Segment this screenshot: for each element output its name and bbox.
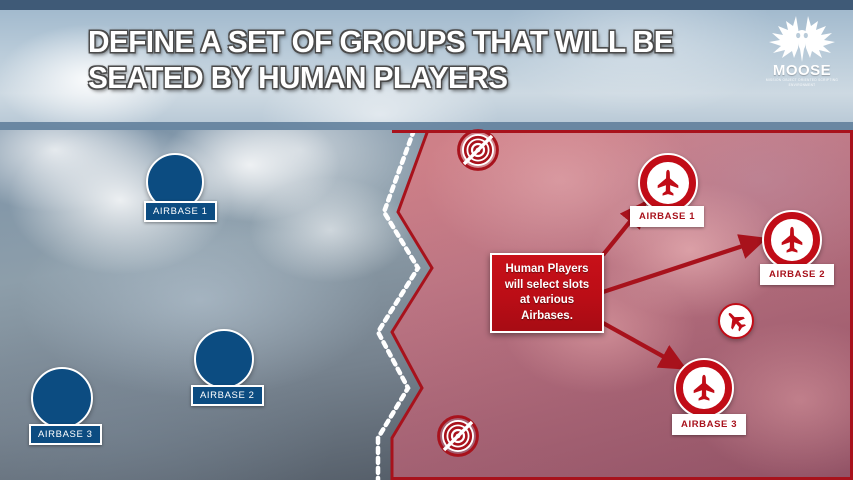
jet-icon xyxy=(719,304,753,338)
blue-airbase-3-circle[interactable] xyxy=(31,367,93,429)
blue-airbase-1-label: AIRBASE 1 xyxy=(144,201,217,222)
red-airbase-2-circle[interactable] xyxy=(762,210,822,270)
moose-antlers-icon xyxy=(766,12,838,62)
radar-marker-bottom[interactable] xyxy=(437,415,479,457)
slide-canvas: DEFINE A SET OF GROUPS THAT WILL BE SEAT… xyxy=(0,0,853,480)
callout-box: Human Players will select slots at vario… xyxy=(490,253,604,333)
header-banner: DEFINE A SET OF GROUPS THAT WILL BE SEAT… xyxy=(0,0,853,130)
moose-subtitle: MISSION OBJECT ORIENTED SCRIPTING ENVIRO… xyxy=(765,78,839,88)
jet-icon xyxy=(653,168,683,198)
blue-airbase-2-label: AIRBASE 2 xyxy=(191,385,264,406)
radar-marker-top[interactable] xyxy=(457,129,499,171)
free-jet-badge[interactable] xyxy=(718,303,754,339)
red-airbase-1-circle[interactable] xyxy=(638,153,698,213)
moose-logo: MOOSE MISSION OBJECT ORIENTED SCRIPTING … xyxy=(765,12,839,94)
jet-icon xyxy=(689,373,719,403)
jet-icon xyxy=(777,225,807,255)
red-airbase-2-inner xyxy=(771,219,812,260)
red-airbase-1-inner xyxy=(647,162,688,203)
red-airbase-2-label: AIRBASE 2 xyxy=(760,264,834,285)
header-bottom-rule xyxy=(0,122,853,130)
blue-airbase-3-label: AIRBASE 3 xyxy=(29,424,102,445)
callout-text: Human Players will select slots at vario… xyxy=(505,262,589,324)
red-airbase-1-label: AIRBASE 1 xyxy=(630,206,704,227)
red-airbase-3-label: AIRBASE 3 xyxy=(672,414,746,435)
red-airbase-3-circle[interactable] xyxy=(674,358,734,418)
header-top-rule xyxy=(0,0,853,10)
moose-wordmark: MOOSE xyxy=(765,63,839,78)
red-airbase-3-inner xyxy=(683,367,724,408)
radar-icon xyxy=(437,415,479,457)
blue-airbase-2-circle[interactable] xyxy=(194,329,254,389)
radar-icon xyxy=(457,129,499,171)
page-title: DEFINE A SET OF GROUPS THAT WILL BE SEAT… xyxy=(88,24,741,96)
